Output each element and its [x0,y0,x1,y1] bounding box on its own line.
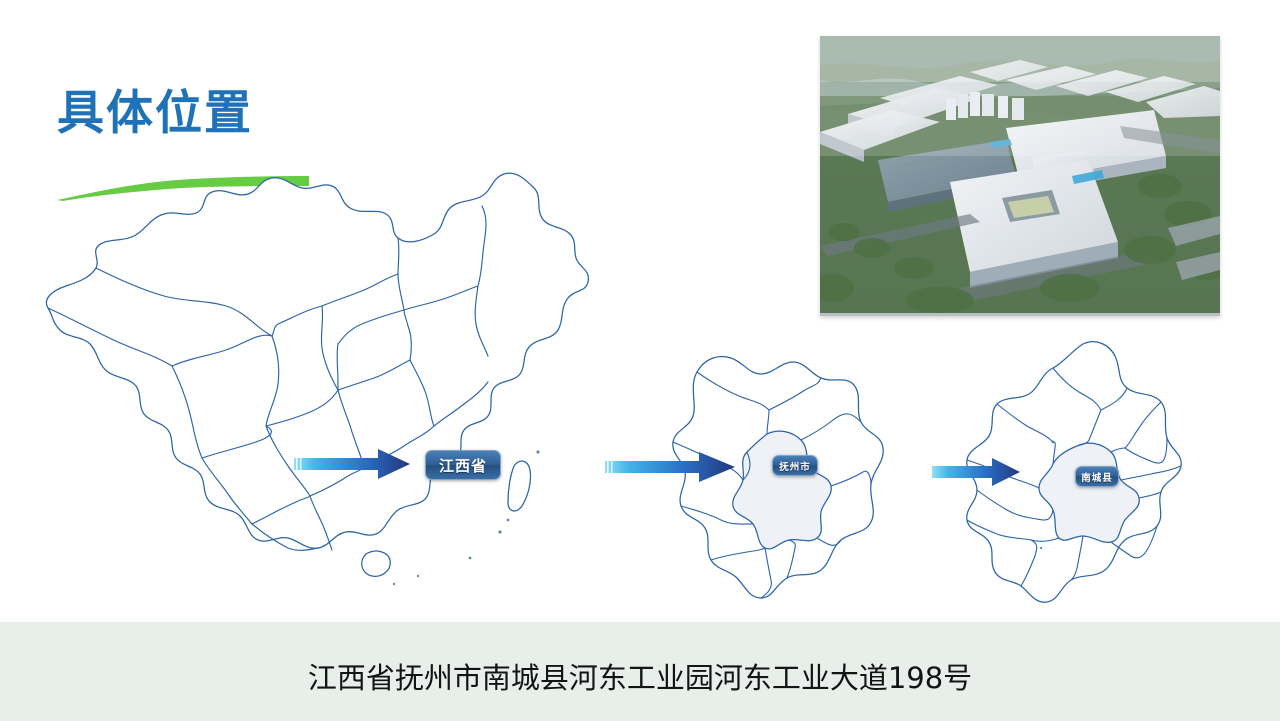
slide-canvas: 具体位置 [0,0,1280,721]
region-label-fuzhou: 抚州市 [772,455,818,476]
map-fuzhou [935,330,1190,605]
map-china [30,160,590,590]
page-title: 具体位置 [57,89,253,136]
region-label-nancheng: 南城县 [1075,466,1119,487]
footer-address: 江西省抚州市南城县河东工业园河东工业大道198号 [0,655,1280,697]
region-label-jiangxi: 江西省 [425,450,501,480]
industrial-park-aerial-rendering [820,36,1220,316]
